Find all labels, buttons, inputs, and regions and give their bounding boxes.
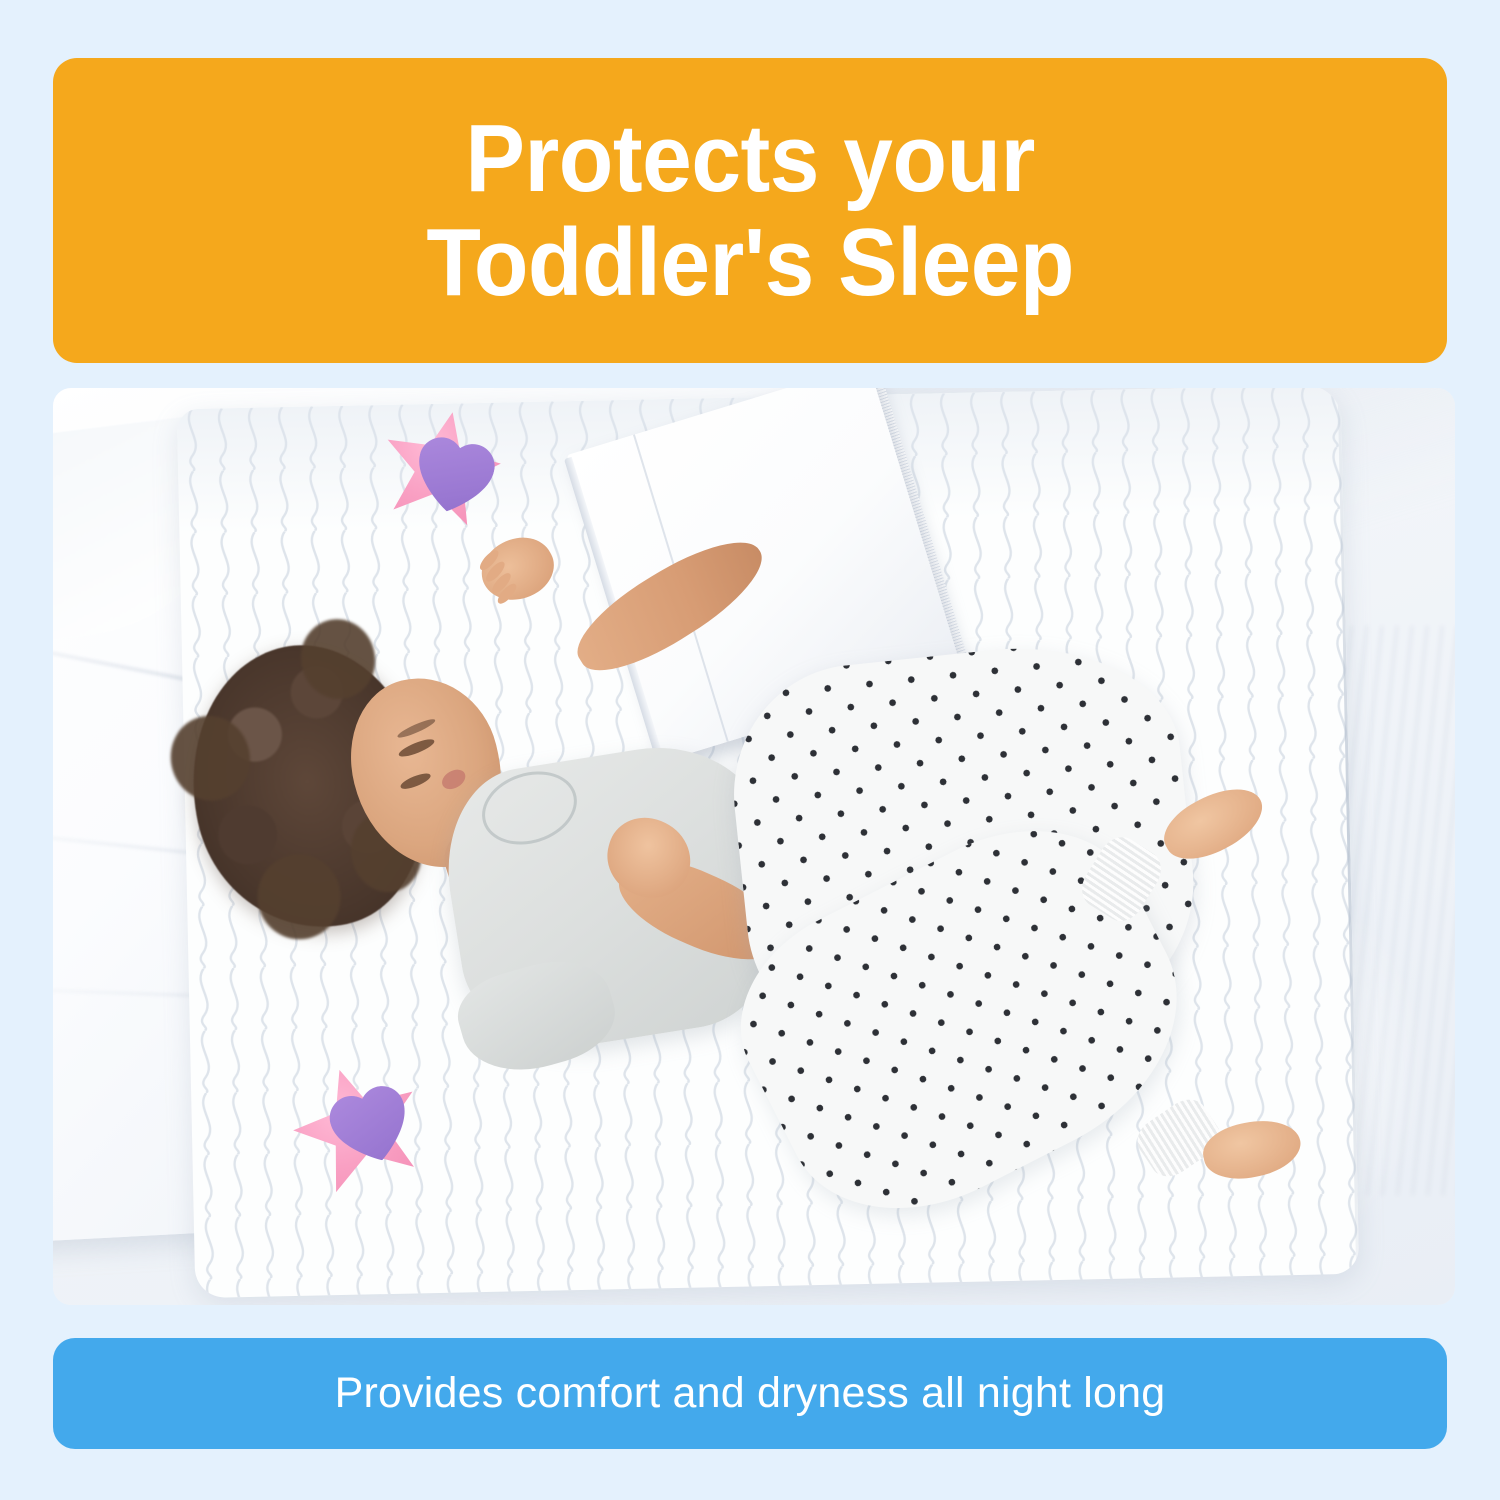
- product-photo: [53, 388, 1455, 1305]
- photo-scene: [53, 388, 1455, 1305]
- hair-tuft: [294, 612, 383, 705]
- closed-eye: [400, 770, 434, 791]
- header-banner: Protects your Toddler's Sleep: [53, 58, 1447, 363]
- hair-tuft: [163, 708, 258, 808]
- eyebrow: [396, 716, 437, 740]
- headline-line-2: Toddler's Sleep: [426, 211, 1074, 315]
- hair-tuft: [249, 846, 348, 947]
- mouth: [439, 766, 469, 794]
- product-infographic-page: Protects your Toddler's Sleep: [0, 0, 1500, 1500]
- closed-eye: [397, 735, 436, 758]
- raised-hand: [471, 526, 563, 613]
- raised-arm: [562, 521, 777, 691]
- headline-line-1: Protects your: [465, 107, 1034, 211]
- caption-text: Provides comfort and dryness all night l…: [335, 1369, 1166, 1418]
- sleeping-toddler: [53, 388, 1455, 1305]
- caption-banner: Provides comfort and dryness all night l…: [53, 1338, 1447, 1449]
